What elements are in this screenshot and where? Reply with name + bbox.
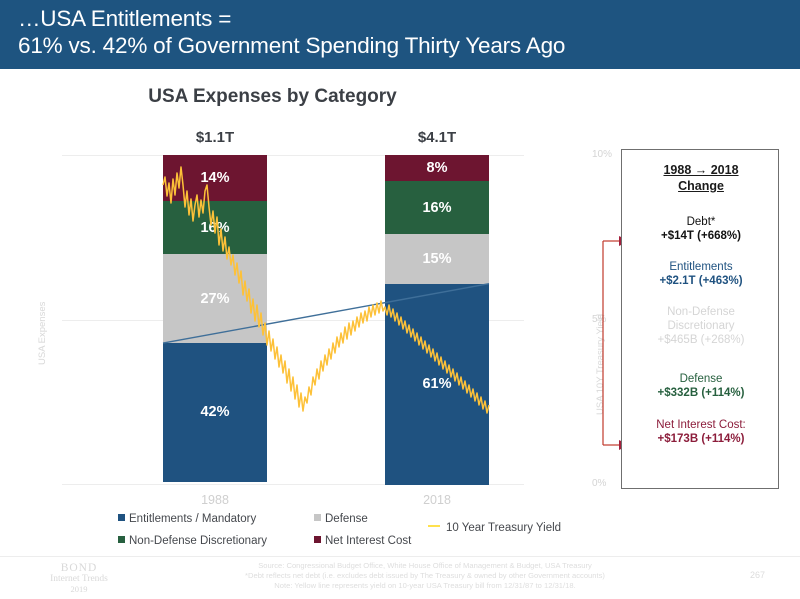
callout-row-net-interest-cost: Net Interest Cost: +$173B (+114%)	[622, 418, 780, 446]
legend-item-non-defense-discretionary[interactable]: Non-Defense Discretionary	[118, 535, 267, 547]
bar-segment-2018-defense[interactable]: 15%	[385, 234, 489, 284]
legend-item-entitlements[interactable]: Entitlements / Mandatory	[118, 513, 256, 525]
bar-label-2018-entitlements: 61%	[422, 376, 451, 392]
footer-divider	[0, 556, 800, 557]
x-axis-label-2018: 2018	[385, 493, 489, 507]
callout-row-debt-value: +$14T (+668%)	[622, 229, 780, 243]
bar-segment-2018-net-interest-cost[interactable]: 8%	[385, 155, 489, 181]
callout-row-entitlements-title: Entitlements	[622, 260, 780, 274]
slide-header: …USA Entitlements = 61% vs. 42% of Gover…	[0, 0, 800, 69]
source-line-1: Source: Congressional Budget Office, Whi…	[200, 561, 650, 571]
legend-label-treasury-yield: 10 Year Treasury Yield	[446, 522, 561, 534]
legend-label-net-interest-cost: Net Interest Cost	[325, 535, 411, 547]
bar-label-1988-net-interest-cost: 14%	[200, 170, 229, 186]
bar-segment-1988-entitlements[interactable]: 42%	[163, 343, 267, 482]
legend-item-treasury-yield[interactable]: 10 Year Treasury Yield	[428, 522, 561, 534]
callout-row-defense-value: +$332B (+114%)	[622, 386, 780, 400]
header-title-line-2: 61% vs. 42% of Government Spending Thirt…	[18, 33, 565, 59]
bar-label-1988-entitlements: 42%	[200, 404, 229, 420]
bar-segment-1988-defense[interactable]: 27%	[163, 254, 267, 343]
callout-heading-line-2: Change	[622, 179, 780, 194]
bar-total-1988: $1.1T	[163, 129, 267, 146]
callout-heading-line-1: 1988 → 2018	[622, 163, 780, 178]
callout-row-non-defense-discretionary-title2: Discretionary	[622, 319, 780, 333]
legend-line-treasury-yield	[428, 525, 440, 527]
source-notes: Source: Congressional Budget Office, Whi…	[200, 561, 650, 591]
callout-row-defense-title: Defense	[622, 372, 780, 386]
source-line-3: Note: Yellow line represents yield on 10…	[200, 581, 650, 591]
legend-label-entitlements: Entitlements / Mandatory	[129, 513, 256, 525]
bar-label-1988-defense: 27%	[200, 291, 229, 307]
slide: …USA Entitlements = 61% vs. 42% of Gover…	[0, 0, 800, 599]
callout-row-debt: Debt* +$14T (+668%)	[622, 215, 780, 243]
bar-total-2018: $4.1T	[385, 129, 489, 146]
change-summary-box: 1988 → 2018 Change Debt* +$14T (+668%) E…	[621, 149, 779, 489]
callout-row-net-interest-cost-value: +$173B (+114%)	[622, 432, 780, 446]
y-axis-left-title: USA Expenses	[37, 302, 48, 365]
bar-label-2018-non-defense-discretionary: 16%	[422, 200, 451, 216]
legend-swatch-non-defense-discretionary	[118, 536, 125, 543]
callout-row-non-defense-discretionary-title: Non-Defense	[622, 305, 780, 319]
callout-row-entitlements-value: +$2.1T (+463%)	[622, 274, 780, 288]
bar-segment-1988-net-interest-cost[interactable]: 14%	[163, 155, 267, 201]
bar-label-1988-non-defense-discretionary: 16%	[200, 220, 229, 236]
callout-row-entitlements: Entitlements +$2.1T (+463%)	[622, 260, 780, 288]
page-number: 267	[750, 570, 765, 580]
header-title-line-1: …USA Entitlements =	[18, 6, 231, 32]
stacked-bar-2018[interactable]: 8% 16% 15% 61%	[385, 155, 489, 485]
legend-item-defense[interactable]: Defense	[314, 513, 368, 525]
callout-row-debt-title: Debt*	[622, 215, 780, 229]
source-line-2: *Debt reflects net debt (i.e. excludes d…	[200, 571, 650, 581]
legend-swatch-entitlements	[118, 514, 125, 521]
bar-segment-2018-non-defense-discretionary[interactable]: 16%	[385, 181, 489, 234]
callout-row-non-defense-discretionary: Non-Defense Discretionary +$465B (+268%)	[622, 305, 780, 347]
callout-row-defense: Defense +$332B (+114%)	[622, 372, 780, 400]
legend-label-non-defense-discretionary: Non-Defense Discretionary	[129, 535, 267, 547]
legend-item-net-interest-cost[interactable]: Net Interest Cost	[314, 535, 411, 547]
plot-area: 100% 50% 0% 10% 5% 0% $1.1T 14% 16% 27% …	[62, 155, 524, 485]
legend-label-defense: Defense	[325, 513, 368, 525]
x-axis-label-1988: 1988	[163, 493, 267, 507]
chart-title: USA Expenses by Category	[0, 86, 545, 108]
brand-subtitle: Internet Trends	[24, 574, 134, 584]
bar-segment-1988-non-defense-discretionary[interactable]: 16%	[163, 201, 267, 254]
brand-name: BOND	[24, 562, 134, 574]
callout-row-non-defense-discretionary-value: +$465B (+268%)	[622, 333, 780, 347]
brand-year: 2019	[24, 584, 134, 594]
stacked-bar-1988[interactable]: 14% 16% 27% 42%	[163, 155, 267, 485]
brand-logo: BOND Internet Trends 2019	[24, 562, 134, 594]
bar-label-2018-net-interest-cost: 8%	[427, 160, 448, 176]
bar-segment-2018-entitlements[interactable]: 61%	[385, 284, 489, 485]
chart-legend: Entitlements / Mandatory Defense 10 Year…	[118, 513, 588, 557]
bar-label-2018-defense: 15%	[422, 251, 451, 267]
legend-swatch-net-interest-cost	[314, 536, 321, 543]
legend-swatch-defense	[314, 514, 321, 521]
callout-row-net-interest-cost-title: Net Interest Cost:	[622, 418, 780, 432]
